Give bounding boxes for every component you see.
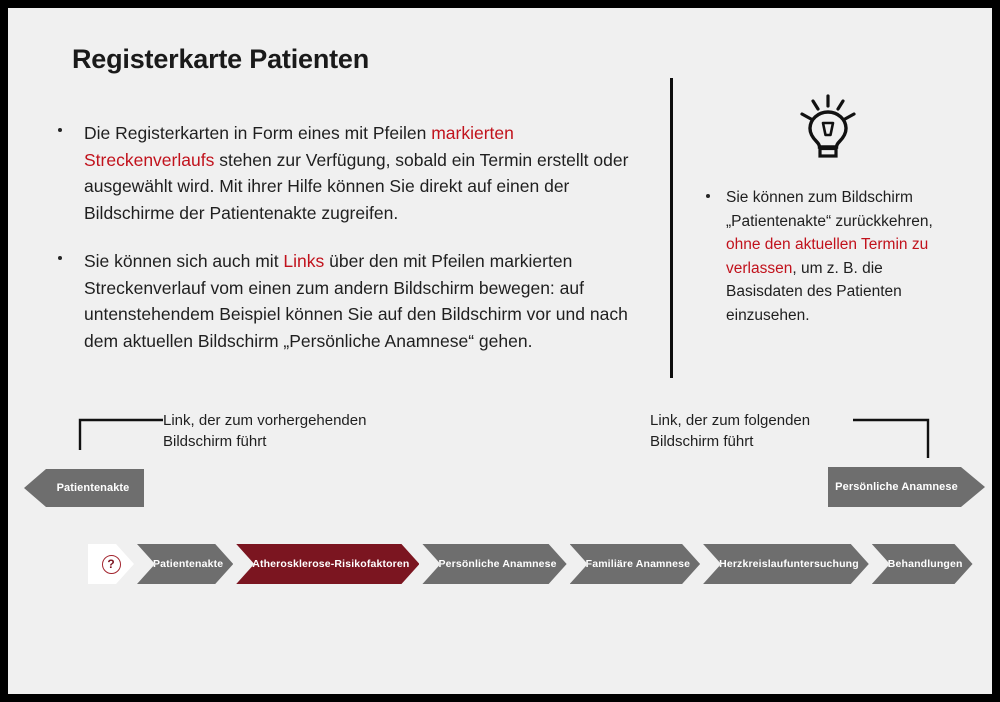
bullet-item: Sie können zum Bildschirm „Patientenakte…: [698, 186, 953, 327]
breadcrumb-step-label: Patientenakte: [137, 558, 233, 570]
bullet-text: Sie können zum Bildschirm „Patientenakte…: [726, 186, 953, 327]
slide-frame: Registerkarte Patienten Die Registerkart…: [0, 0, 1000, 702]
link-chip-previous[interactable]: Patientenakte: [24, 469, 144, 507]
tip-bullet-list: Sie können zum Bildschirm „Patientenakte…: [698, 186, 953, 327]
breadcrumb-step[interactable]: Atherosklerose-Risikofaktoren: [236, 544, 419, 584]
bullet-marker-icon: [58, 128, 62, 132]
accent-text: Links: [283, 251, 324, 271]
callout-next-label: Link, der zum folgenden Bildschirm führt: [650, 410, 865, 452]
bullet-item: Sie können sich auch mit Links über den …: [48, 248, 648, 354]
callout-previous-connector: [78, 412, 164, 452]
breadcrumb: ?PatientenakteAtherosklerose-Risikofakto…: [88, 544, 976, 584]
breadcrumb-step-label: Behandlungen: [872, 558, 973, 570]
breadcrumb-step-label: Persönliche Anamnese: [422, 558, 566, 570]
breadcrumb-step-label: Herzkreislaufuntersuchung: [703, 558, 869, 570]
bullet-item: Die Registerkarten in Form eines mit Pfe…: [48, 120, 648, 226]
plain-text: Sie können zum Bildschirm „Patientenakte…: [726, 189, 933, 230]
body-bullet-list: Die Registerkarten in Form eines mit Pfe…: [48, 120, 648, 376]
bullet-text: Sie können sich auch mit Links über den …: [84, 248, 648, 354]
breadcrumb-step[interactable]: Herzkreislaufuntersuchung: [703, 544, 869, 584]
callout-next-connector: [853, 412, 931, 460]
tip-divider: [670, 78, 673, 378]
slide-canvas: Registerkarte Patienten Die Registerkart…: [8, 8, 992, 694]
breadcrumb-step[interactable]: Patientenakte: [137, 544, 233, 584]
chip-next-label: Persönliche Anamnese: [828, 467, 985, 507]
page-title: Registerkarte Patienten: [72, 44, 369, 75]
callout-previous-label: Link, der zum vorhergehenden Bildschirm …: [163, 410, 403, 452]
breadcrumb-help-step[interactable]: ?: [88, 544, 134, 584]
breadcrumb-step-label: Atherosklerose-Risikofaktoren: [236, 558, 419, 570]
bullet-marker-icon: [58, 256, 62, 260]
chip-previous-label: Patientenakte: [24, 469, 144, 507]
bullet-marker-icon: [706, 194, 710, 198]
plain-text: Sie können sich auch mit: [84, 251, 283, 271]
plain-text: Die Registerkarten in Form eines mit Pfe…: [84, 123, 431, 143]
breadcrumb-step[interactable]: Persönliche Anamnese: [422, 544, 566, 584]
breadcrumb-step-label: Familiäre Anamnese: [570, 558, 700, 570]
breadcrumb-step[interactable]: Behandlungen: [872, 544, 973, 584]
help-icon[interactable]: ?: [102, 555, 121, 574]
link-chip-next[interactable]: Persönliche Anamnese: [828, 467, 985, 507]
breadcrumb-step[interactable]: Familiäre Anamnese: [570, 544, 700, 584]
lightbulb-icon: [792, 90, 864, 162]
bullet-text: Die Registerkarten in Form eines mit Pfe…: [84, 120, 648, 226]
